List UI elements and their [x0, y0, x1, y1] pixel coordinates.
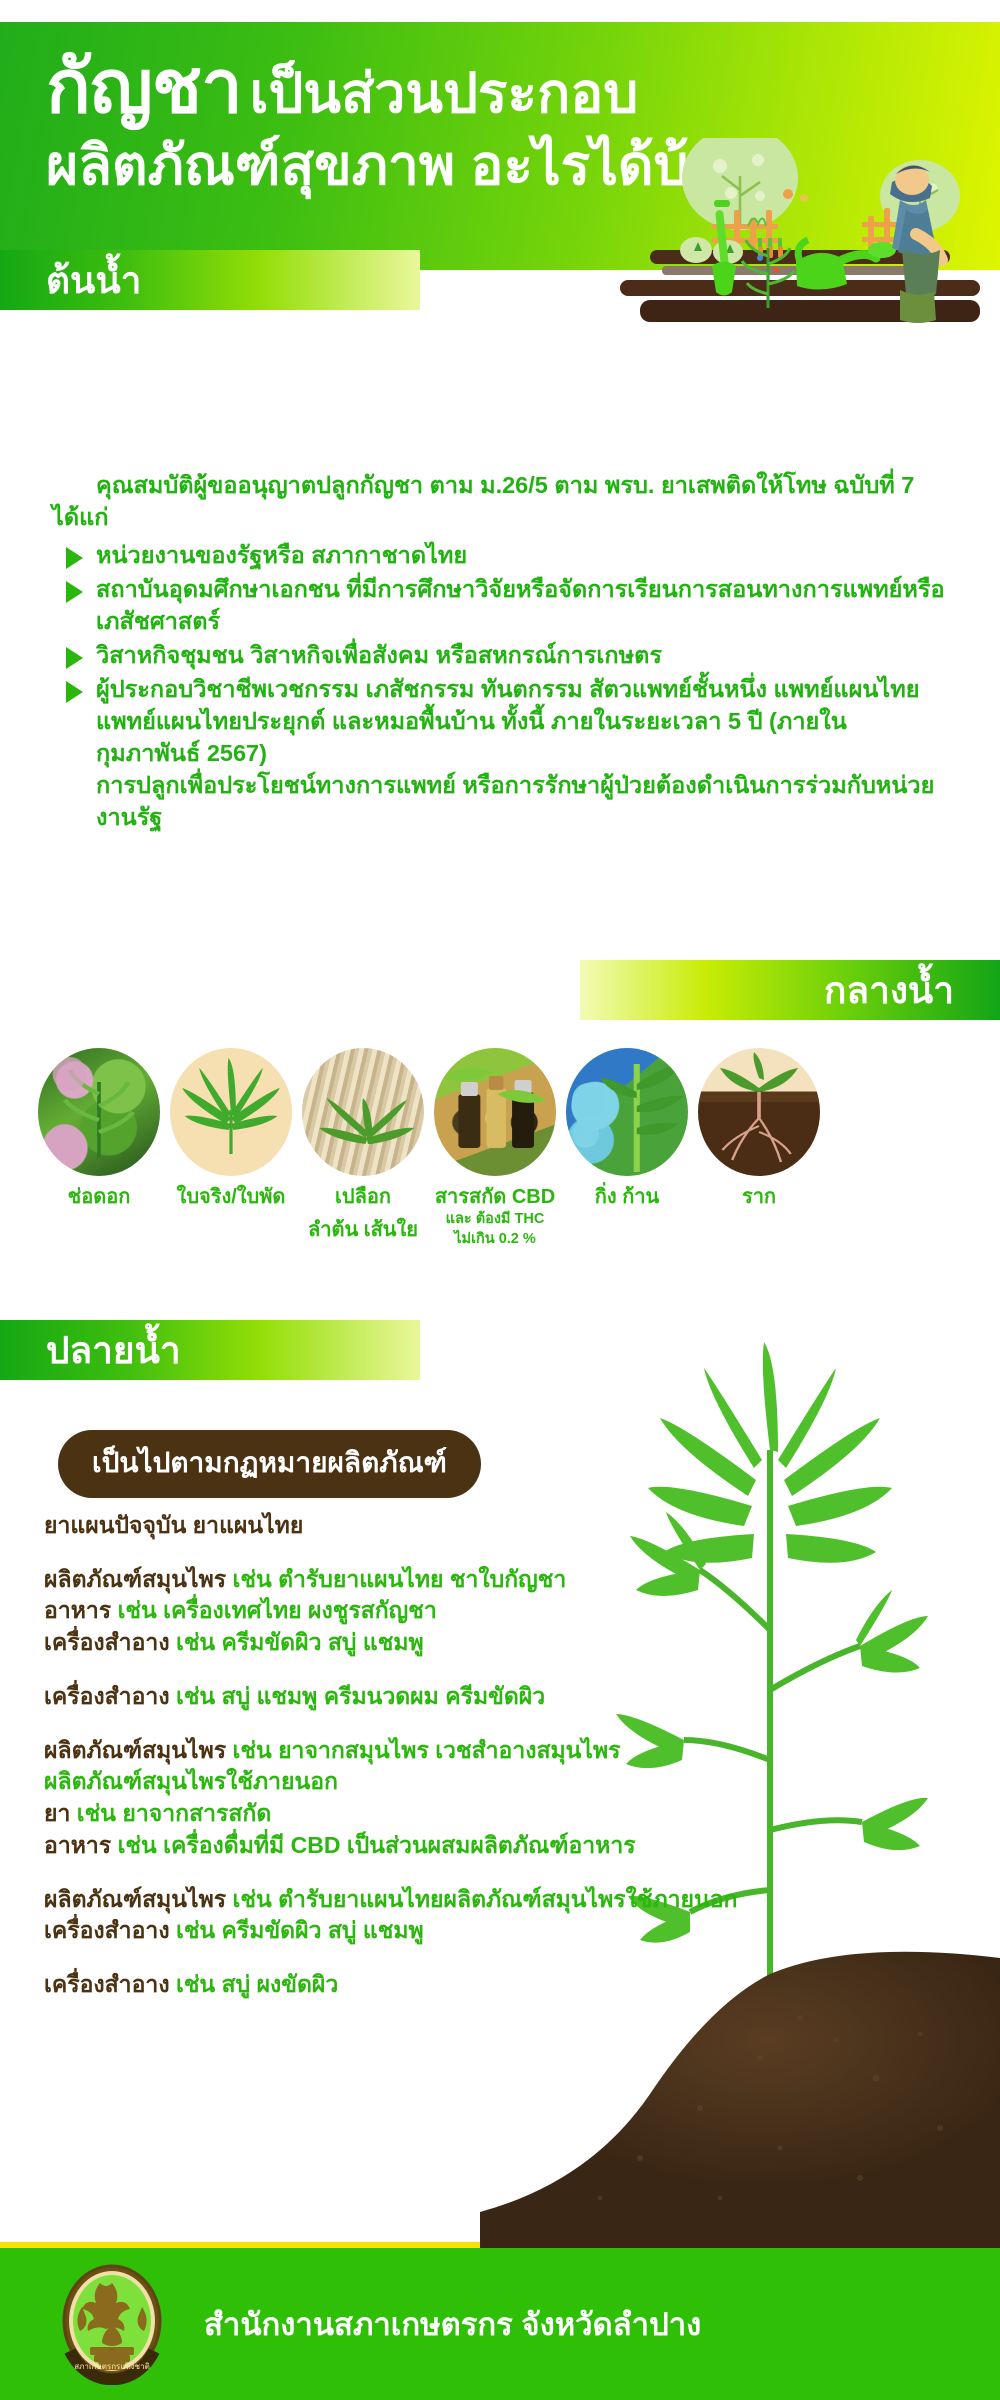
downstream-line-examples: เช่น สบู่ ผงขัดผิว — [176, 1971, 338, 1997]
midstream-item-sublabel-line1: และ ต้องมี THC — [434, 1211, 556, 1228]
downstream-line-label: ผลิตภัณฑ์สมุนไพร — [44, 1566, 226, 1592]
midstream-item-label: ราก — [698, 1186, 820, 1209]
gardening-illustration — [600, 138, 1000, 328]
spacer — [44, 1659, 684, 1681]
downstream-block: ยาแผนปัจจุบัน ยาแผนไทย — [44, 1510, 684, 1542]
list-item: หน่วยงานของรัฐหรือ สภากาชาดไทย — [52, 540, 948, 572]
triangle-bullet-icon — [66, 647, 83, 669]
upstream-bullet-list: หน่วยงานของรัฐหรือ สภากาชาดไทย สถาบันอุด… — [52, 540, 948, 770]
section-banner-downstream-label: ปลายน้ำ — [46, 1321, 181, 1380]
downstream-line-label: ผลิตภัณฑ์สมุนไพร — [44, 1737, 226, 1763]
section-banner-upstream-label: ต้นน้ำ — [46, 251, 141, 310]
upstream-tail-text: การปลูกเพื่อประโยชน์ทางการแพทย์ หรือการร… — [52, 770, 948, 834]
upstream-content: คุณสมบัติผู้ขออนุญาตปลูกกัญชา ตาม ม.26/5… — [0, 470, 1000, 833]
cannabis-leaf-photo — [170, 1048, 292, 1176]
downstream-line-label: ยาแผนปัจจุบัน ยาแผนไทย — [44, 1512, 303, 1538]
triangle-bullet-icon — [66, 581, 83, 603]
downstream-line: เครื่องสำอาง เช่น ครีมขัดผิว สบู่ แชมพู — [44, 1915, 684, 1947]
upstream-intro-text: คุณสมบัติผู้ขออนุญาตปลูกกัญชา ตาม ม.26/5… — [52, 470, 948, 534]
downstream-line-examples: เช่น ยาจากสารสกัด — [77, 1800, 272, 1826]
midstream-item-label: ใบจริง/ใบพัด — [170, 1186, 292, 1209]
downstream-line: อาหาร เช่น เครื่องดื่มที่มี CBD เป็นส่วน… — [44, 1830, 684, 1862]
list-item-label: สถาบันอุดมศึกษาเอกชน ที่มีการศึกษาวิจัยห… — [96, 576, 945, 634]
spacer — [44, 1862, 684, 1884]
downstream-block: ผลิตภัณฑ์สมุนไพร เช่น ตำรับยาแผนไทยผลิตภ… — [44, 1884, 684, 1947]
downstream-line: อาหาร เช่น เครื่องเทศไทย ผงชูรสกัญชา — [44, 1595, 684, 1627]
top-white-strip — [0, 0, 1000, 22]
list-item-label: ผู้ประกอบวิชาชีพเวชกรรม เภสัชกรรม ทันตกร… — [96, 676, 920, 766]
downstream-block: เครื่องสำอาง เช่น สบู่ แชมพู ครีมนวดผม ค… — [44, 1681, 684, 1713]
downstream-line-label: อาหาร — [44, 1597, 111, 1623]
midstream-item-label: ช่อดอก — [38, 1186, 160, 1209]
midstream-item-row: ช่อดอก ใบจริง/ใบพัด — [0, 1048, 1000, 1288]
midstream-item-cbd: สารสกัด CBD และ ต้องมี THC ไม่เกิน 0.2 % — [434, 1048, 556, 1248]
downstream-line-label: ยา — [44, 1800, 70, 1826]
midstream-item-leaf: ใบจริง/ใบพัด — [170, 1048, 292, 1209]
downstream-line-examples: เช่น สบู่ แชมพู ครีมนวดผม ครีมขัดผิว — [176, 1683, 545, 1709]
downstream-line: ผลิตภัณฑ์สมุนไพร เช่น ตำรับยาแผนไทย ชาใบ… — [44, 1564, 684, 1596]
spacer — [44, 1713, 684, 1735]
midstream-item-sublabel-line2: ไม่เกิน 0.2 % — [434, 1231, 556, 1248]
triangle-bullet-icon — [66, 681, 83, 703]
downstream-line-label: เครื่องสำอาง — [44, 1629, 170, 1655]
downstream-line-examples: เช่น ตำรับยาแผนไทย ชาใบกัญชา — [233, 1566, 567, 1592]
downstream-line-label: เครื่องสำอาง — [44, 1917, 170, 1943]
page-title-sub: เป็นส่วนประกอบ — [250, 66, 639, 121]
hemp-fiber-photo — [302, 1048, 424, 1176]
downstream-line: ผลิตภัณฑ์สมุนไพร เช่น ยาจากสมุนไพร เวชสำ… — [44, 1735, 684, 1798]
footer-org-name: สำนักงานสภาเกษตรกร จังหวัดลำปาง — [204, 2299, 701, 2349]
downstream-line-label: เครื่องสำอาง — [44, 1683, 170, 1709]
cannabis-root-photo — [698, 1048, 820, 1176]
downstream-content: ยาแผนปัจจุบัน ยาแผนไทย ผลิตภัณฑ์สมุนไพร … — [44, 1510, 684, 2001]
svg-text:สภาเกษตรกรแห่งชาติ: สภาเกษตรกรแห่งชาติ — [74, 2362, 150, 2371]
list-item: วิสาหกิจชุมชน วิสาหกิจเพื่อสังคม หรือสหก… — [52, 640, 948, 672]
section-banner-downstream: ปลายน้ำ — [0, 1320, 420, 1380]
midstream-item-bark: เปลือก ลำต้น เส้นใย — [302, 1048, 424, 1242]
spacer — [44, 1542, 684, 1564]
midstream-item-stem: กิ่ง ก้าน — [566, 1048, 688, 1209]
midstream-item-label: กิ่ง ก้าน — [566, 1186, 688, 1209]
downstream-line-examples: เช่น ครีมขัดผิว สบู่ แชมพู — [176, 1629, 424, 1655]
footer-bar: สภาเกษตรกรแห่งชาติ สำนักงานสภาเกษตรกร จั… — [0, 2248, 1000, 2400]
downstream-line: เครื่องสำอาง เช่น ครีมขัดผิว สบู่ แชมพู — [44, 1627, 684, 1659]
downstream-line-label: ผลิตภัณฑ์สมุนไพร — [44, 1886, 226, 1912]
cannabis-stem-photo — [566, 1048, 688, 1176]
midstream-item-label: เปลือก — [302, 1186, 424, 1209]
downstream-line: เครื่องสำอาง เช่น สบู่ ผงขัดผิว — [44, 1969, 684, 2001]
list-item-label: หน่วยงานของรัฐหรือ สภากาชาดไทย — [96, 542, 467, 568]
section-banner-upstream: ต้นน้ำ — [0, 250, 420, 310]
downstream-block: เครื่องสำอาง เช่น สบู่ ผงขัดผิว — [44, 1969, 684, 2001]
downstream-line-label: เครื่องสำอาง — [44, 1971, 170, 1997]
triangle-bullet-icon — [66, 547, 83, 569]
downstream-block: ผลิตภัณฑ์สมุนไพร เช่น ตำรับยาแผนไทย ชาใบ… — [44, 1564, 684, 1659]
downstream-line: ยาแผนปัจจุบัน ยาแผนไทย — [44, 1510, 684, 1542]
downstream-line-examples: เช่น ตำรับยาแผนไทยผลิตภัณฑ์สมุนไพรใช้ภาย… — [233, 1886, 738, 1912]
downstream-block: ผลิตภัณฑ์สมุนไพร เช่น ยาจากสมุนไพร เวชสำ… — [44, 1735, 684, 1862]
midstream-item-label: สารสกัด CBD — [434, 1186, 556, 1209]
section-banner-midstream-label: กลางน้ำ — [824, 961, 954, 1020]
downstream-line-examples: เช่น เครื่องดื่มที่มี CBD เป็นส่วนผสมผลิ… — [118, 1832, 636, 1858]
downstream-line-label: อาหาร — [44, 1832, 111, 1858]
downstream-line: ผลิตภัณฑ์สมุนไพร เช่น ตำรับยาแผนไทยผลิตภ… — [44, 1884, 684, 1916]
spacer — [44, 1947, 684, 1969]
midstream-item-root: ราก — [698, 1048, 820, 1209]
list-item: ผู้ประกอบวิชาชีพเวชกรรม เภสัชกรรม ทันตกร… — [52, 674, 948, 770]
cannabis-bud-photo — [38, 1048, 160, 1176]
midstream-item-sublabel: ลำต้น เส้นใย — [302, 1219, 424, 1242]
cbd-oil-bottles-photo — [434, 1048, 556, 1176]
garuda-emblem-logo: สภาเกษตรกรแห่งชาติ — [60, 2263, 164, 2385]
downstream-line-examples: เช่น ครีมขัดผิว สบู่ แชมพู — [176, 1917, 424, 1943]
midstream-item-bud: ช่อดอก — [38, 1048, 160, 1209]
section-banner-midstream: กลางน้ำ — [580, 960, 1000, 1020]
page-title-main: กัญชา — [46, 50, 242, 124]
downstream-line: ยา เช่น ยาจากสารสกัด — [44, 1798, 684, 1830]
downstream-line-examples: เช่น เครื่องเทศไทย ผงชูรสกัญชา — [118, 1597, 437, 1623]
list-item: สถาบันอุดมศึกษาเอกชน ที่มีการศึกษาวิจัยห… — [52, 574, 948, 638]
list-item-label: วิสาหกิจชุมชน วิสาหกิจเพื่อสังคม หรือสหก… — [96, 642, 662, 668]
product-law-badge: เป็นไปตามกฏหมายผลิตภัณฑ์ — [58, 1430, 481, 1498]
downstream-line: เครื่องสำอาง เช่น สบู่ แชมพู ครีมนวดผม ค… — [44, 1681, 684, 1713]
